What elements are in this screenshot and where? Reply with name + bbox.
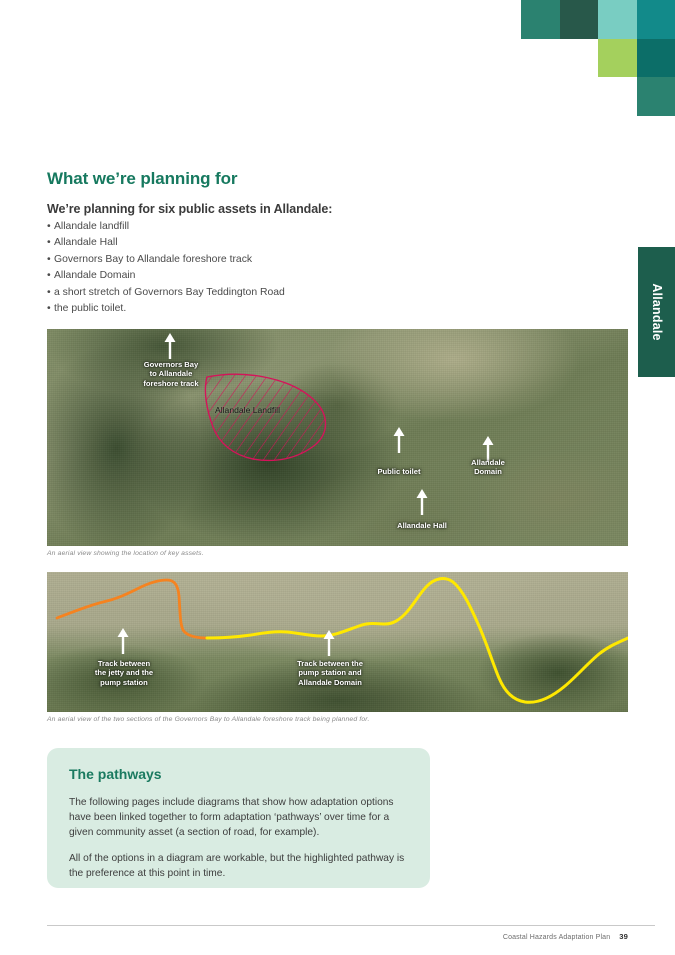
map-label-track-jetty-pump: Track between the jetty and the pump sta…: [79, 659, 169, 687]
square-r1c4: [637, 0, 675, 39]
footer-divider: [47, 925, 655, 926]
section-subtitle: We’re planning for six public assets in …: [47, 202, 332, 216]
aerial-photo-foreshore-track: Track between the jetty and the pump sta…: [47, 572, 628, 712]
section-tab-allandale[interactable]: Allandale: [638, 247, 675, 377]
list-item: •Allandale landfill: [47, 219, 467, 235]
map-label-allandale-domain: Allandale Domain: [447, 458, 529, 477]
map-label-allandale-hall: Allandale Hall: [380, 521, 464, 530]
asset-list: •Allandale landfill •Allandale Hall •Gov…: [47, 219, 467, 317]
pointer-arrow-foreshore-track: [163, 333, 177, 359]
aerial-photo-key-assets: Governors Bay to Allandale foreshore tra…: [47, 329, 628, 546]
pathways-paragraph-1: The following pages include diagrams tha…: [69, 795, 408, 841]
figure-aerial-foreshore-track: Track between the jetty and the pump sta…: [47, 572, 628, 723]
map-label-public-toilet: Public toilet: [359, 467, 439, 476]
list-item-label: Allandale Domain: [54, 270, 135, 281]
square-r2c4: [637, 39, 675, 78]
square-r1c2: [560, 0, 599, 39]
list-item-label: Allandale Hall: [54, 237, 118, 248]
track-section-jetty-pump: [57, 580, 207, 638]
pointer-arrow-allandale-hall: [415, 489, 429, 515]
list-item: •a short stretch of Governors Bay Teddin…: [47, 285, 467, 301]
square-r2c3: [598, 39, 637, 78]
footer-page-number: 39: [619, 932, 628, 941]
pathways-paragraph-2: All of the options in a diagram are work…: [69, 851, 408, 881]
pointer-arrow-track-jetty-pump: [116, 628, 130, 654]
figure-caption: An aerial view of the two sections of th…: [47, 716, 628, 723]
list-item-label: the public toilet.: [54, 303, 126, 314]
pathways-callout: The pathways The following pages include…: [47, 748, 430, 888]
pointer-arrow-public-toilet: [392, 427, 406, 453]
list-item: •the public toilet.: [47, 301, 467, 317]
track-section-pump-domain: [207, 579, 628, 703]
page-title: What we’re planning for: [47, 169, 237, 189]
section-tab-label: Allandale: [650, 283, 664, 340]
footer-document-title: Coastal Hazards Adaptation Plan: [503, 934, 610, 941]
square-r1c3: [598, 0, 637, 39]
figure-aerial-key-assets: Governors Bay to Allandale foreshore tra…: [47, 329, 628, 557]
list-item: •Allandale Hall: [47, 235, 467, 251]
pathways-title: The pathways: [69, 766, 408, 782]
list-item-label: a short stretch of Governors Bay Tedding…: [54, 287, 285, 298]
map-label-allandale-landfill: Allandale Landfill: [215, 405, 280, 415]
pointer-arrow-track-pump-domain: [322, 630, 336, 656]
list-item: •Governors Bay to Allandale foreshore tr…: [47, 252, 467, 268]
map-label-track-pump-domain: Track between the pump station and Allan…: [280, 659, 380, 687]
footer: Coastal Hazards Adaptation Plan39: [503, 932, 628, 941]
track-route-overlay: [47, 572, 628, 712]
map-label-foreshore-track: Governors Bay to Allandale foreshore tra…: [123, 360, 219, 388]
list-item-label: Governors Bay to Allandale foreshore tra…: [54, 254, 252, 265]
square-r3c4: [637, 77, 675, 116]
list-item: •Allandale Domain: [47, 268, 467, 284]
square-r1c1: [521, 0, 560, 39]
list-item-label: Allandale landfill: [54, 221, 129, 232]
decorative-square-grid: [521, 0, 675, 116]
figure-caption: An aerial view showing the location of k…: [47, 550, 628, 557]
